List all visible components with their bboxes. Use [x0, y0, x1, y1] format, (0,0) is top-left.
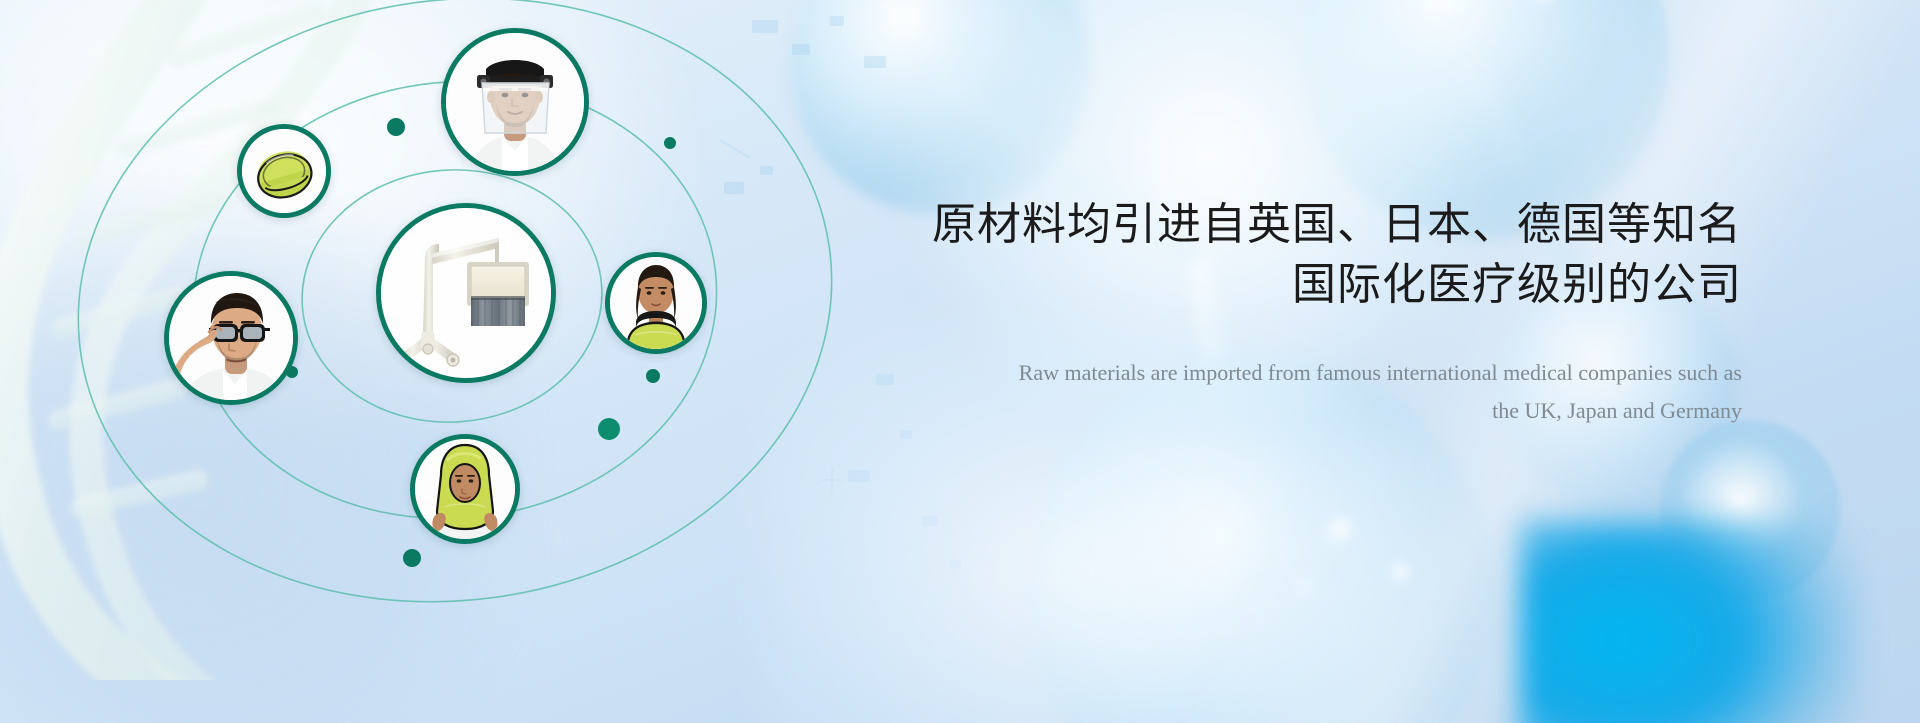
node-face-shield[interactable]: [441, 28, 589, 176]
headline-line-2: 国际化医疗级别的公司: [922, 256, 1742, 314]
orbit-dot-1: [387, 118, 405, 136]
subtitle: Raw materials are imported from famous i…: [922, 354, 1742, 430]
orbit-dot-6: [403, 549, 421, 567]
headline-line-1: 原材料均引进自英国、日本、德国等知名: [922, 196, 1742, 254]
background-bubble-bottom-right: [1520, 520, 1860, 723]
lead-glasses-icon: [169, 276, 293, 400]
mobile-shield-stand-icon: [381, 208, 551, 378]
node-thyroid-collar[interactable]: [605, 252, 707, 354]
lead-cap-icon: [242, 129, 326, 213]
orbit-dot-4: [646, 369, 660, 383]
node-lead-cap[interactable]: [237, 124, 331, 218]
subtitle-line-2: the UK, Japan and Germany: [922, 392, 1742, 430]
node-lead-hood[interactable]: [410, 434, 520, 544]
subtitle-line-1: Raw materials are imported from famous i…: [922, 354, 1742, 392]
banner-stage: 原材料均引进自英国、日本、德国等知名 国际化医疗级别的公司 Raw materi…: [0, 0, 1920, 723]
thyroid-collar-icon: [610, 257, 702, 349]
x-ray-face-shield-icon: [446, 33, 584, 171]
orbit-dot-5: [598, 418, 620, 440]
lead-hood-icon: [415, 439, 515, 539]
node-mobile-barrier[interactable]: [376, 203, 556, 383]
banner-copy: 原材料均引进自英国、日本、德国等知名 国际化医疗级别的公司 Raw materi…: [922, 196, 1742, 430]
node-lead-glasses[interactable]: [164, 271, 298, 405]
orbit-dot-2: [664, 137, 676, 149]
